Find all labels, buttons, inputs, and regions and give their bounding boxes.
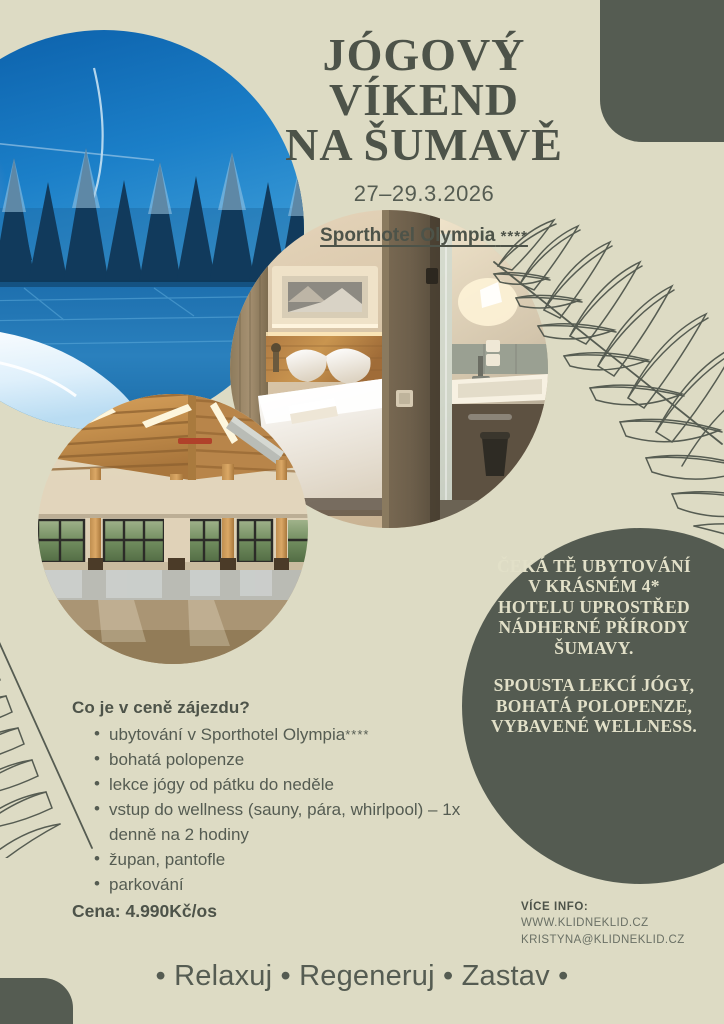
venue-label: Sporthotel Olympia bbox=[320, 225, 495, 246]
palm-frond-line-art-icon bbox=[486, 218, 724, 578]
list-item-stars: **** bbox=[345, 727, 369, 742]
page-title: JÓGOVÝ VÍKEND NA ŠUMAVĚ bbox=[238, 32, 610, 167]
event-date: 27–29.3.2026 bbox=[238, 181, 610, 207]
list-item-text: bohatá polopenze bbox=[109, 750, 244, 769]
list-item: ubytování v Sporthotel Olympia**** bbox=[94, 723, 462, 747]
included-section: Co je v ceně zájezdu? ubytování v Sporth… bbox=[72, 698, 462, 922]
price-label: Cena: 4.990Kč/os bbox=[72, 901, 462, 922]
list-item-text: ubytování v Sporthotel Olympia bbox=[109, 725, 345, 744]
list-item: župan, pantofle bbox=[94, 848, 462, 872]
title-line-1: JÓGOVÝ VÍKEND bbox=[323, 29, 526, 125]
list-item: parkování bbox=[94, 873, 462, 897]
list-item-text: vstup do wellness (sauny, pára, whirlpoo… bbox=[109, 800, 460, 843]
list-item-text: parkování bbox=[109, 875, 184, 894]
highlight-paragraph-1: ČEKÁ TĚ UBYTOVÁNÍ V KRÁSNÉM 4* HOTELU UP… bbox=[497, 556, 691, 658]
highlight-paragraph-2: SPOUSTA LEKCÍ JÓGY, BOHATÁ POLOPENZE, VY… bbox=[490, 675, 698, 736]
venue-name: Sporthotel Olympia **** bbox=[238, 225, 610, 247]
included-heading: Co je v ceně zájezdu? bbox=[72, 698, 462, 718]
list-item-text: lekce jógy od pátku do neděle bbox=[109, 775, 334, 794]
highlight-text: ČEKÁ TĚ UBYTOVÁNÍ V KRÁSNÉM 4* HOTELU UP… bbox=[490, 556, 698, 737]
contact-email[interactable]: KRISTYNA@KLIDNEKLID.CZ bbox=[521, 932, 685, 948]
list-item: vstup do wellness (sauny, pára, whirlpoo… bbox=[94, 798, 462, 846]
contact-block: VÍCE INFO: WWW.KLIDNEKLID.CZ KRISTYNA@KL… bbox=[521, 899, 685, 948]
list-item: lekce jógy od pátku do neděle bbox=[94, 773, 462, 797]
contact-website[interactable]: WWW.KLIDNEKLID.CZ bbox=[521, 915, 685, 931]
top-right-corner-block bbox=[600, 0, 724, 142]
footer-tagline: • Relaxuj • Regeneruj • Zastav • bbox=[0, 960, 724, 993]
contact-label: VÍCE INFO: bbox=[521, 899, 685, 915]
poster-canvas: JÓGOVÝ VÍKEND NA ŠUMAVĚ 27–29.3.2026 Spo… bbox=[0, 0, 724, 1024]
list-item-text: župan, pantofle bbox=[109, 850, 225, 869]
list-item: bohatá polopenze bbox=[94, 748, 462, 772]
title-line-2: NA ŠUMAVĚ bbox=[238, 122, 610, 167]
headline-block: JÓGOVÝ VÍKEND NA ŠUMAVĚ 27–29.3.2026 Spo… bbox=[238, 32, 610, 247]
included-list: ubytování v Sporthotel Olympia**** bohat… bbox=[72, 723, 462, 897]
venue-stars: **** bbox=[501, 228, 528, 245]
